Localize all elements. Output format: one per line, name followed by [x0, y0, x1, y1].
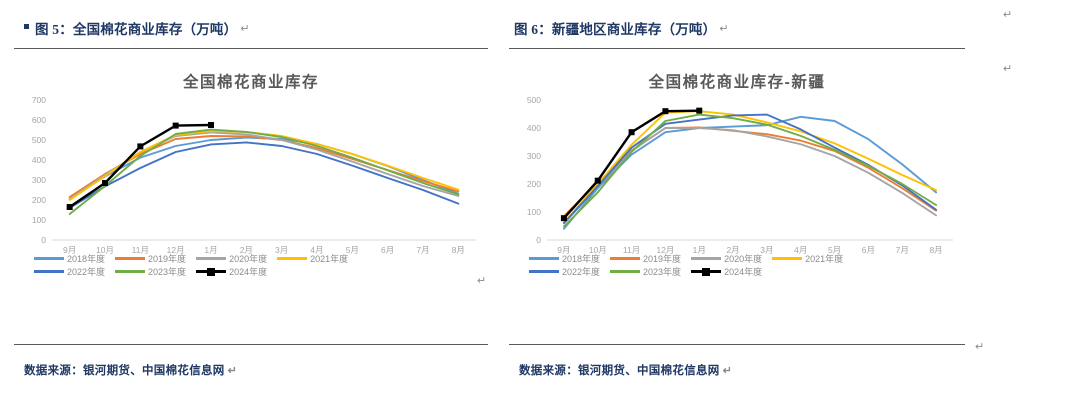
svg-text:500: 500: [32, 135, 46, 145]
svg-text:100: 100: [32, 215, 46, 225]
caption-divider: [14, 48, 488, 49]
legend-swatch-icon: [34, 257, 64, 260]
legend-item[interactable]: 2023年度: [115, 265, 186, 278]
svg-text:0: 0: [41, 235, 46, 245]
svg-text:0: 0: [536, 235, 541, 245]
legend-swatch-icon: [115, 257, 145, 260]
legend-label: 2021年度: [805, 252, 843, 265]
legend-item[interactable]: 2022年度: [529, 265, 600, 278]
legend-label: 2022年度: [562, 265, 600, 278]
paragraph-mark-icon: ↵: [719, 22, 728, 35]
svg-text:500: 500: [527, 95, 541, 105]
paragraph-mark-icon: ↵: [240, 22, 249, 35]
svg-text:300: 300: [32, 175, 46, 185]
legend-row: 2018年度2019年度2020年度2021年度: [34, 252, 474, 265]
legend-item[interactable]: 2019年度: [115, 252, 186, 265]
legend-swatch-icon: [610, 270, 640, 273]
legend-label: 2018年度: [562, 252, 600, 265]
legend-row: 2022年度2023年度2024年度: [34, 265, 474, 278]
svg-text:100: 100: [527, 207, 541, 217]
legend-swatch-icon: [529, 257, 559, 260]
legend-item[interactable]: 2022年度: [34, 265, 105, 278]
legend-swatch-icon: [196, 270, 226, 273]
legend-label: 2023年度: [643, 265, 681, 278]
legend-item[interactable]: 2024年度: [196, 265, 267, 278]
bullet-icon: [24, 24, 29, 29]
chart-legend-right: 2018年度2019年度2020年度2021年度2022年度2023年度2024…: [529, 252, 959, 278]
paragraph-mark-icon: ↵: [723, 365, 733, 377]
figure-caption-text: 图 5：全国棉花商业库存（万吨）: [35, 18, 237, 38]
legend-label: 2020年度: [229, 252, 267, 265]
figure-caption-right: 图 6：新疆地区商业库存（万吨） ↵: [514, 18, 729, 38]
legend-swatch-icon: [610, 257, 640, 260]
chart-legend-left: 2018年度2019年度2020年度2021年度2022年度2023年度2024…: [34, 252, 474, 278]
source-divider: [509, 344, 965, 345]
paragraph-mark-icon: ↵: [228, 365, 238, 377]
legend-label: 2021年度: [310, 252, 348, 265]
paragraph-mark-icon: ↵: [1003, 62, 1012, 75]
legend-item[interactable]: 2023年度: [610, 265, 681, 278]
legend-swatch-icon: [115, 270, 145, 273]
legend-item[interactable]: 2019年度: [610, 252, 681, 265]
svg-text:400: 400: [32, 155, 46, 165]
chart-title: 全国棉花商业库存: [14, 70, 488, 92]
figure-caption-text: 图 6：新疆地区商业库存（万吨）: [514, 18, 716, 38]
svg-text:200: 200: [32, 195, 46, 205]
legend-item[interactable]: 2024年度: [691, 265, 762, 278]
legend-label: 2019年度: [148, 252, 186, 265]
legend-label: 2024年度: [229, 265, 267, 278]
line-chart-left: 01002003004005006007009月10月11月12月1月2月3月4…: [14, 92, 488, 262]
caption-divider: [509, 48, 965, 49]
legend-swatch-icon: [196, 257, 226, 260]
svg-text:400: 400: [527, 123, 541, 133]
legend-label: 2020年度: [724, 252, 762, 265]
paragraph-mark-icon: ↵: [975, 340, 984, 353]
paragraph-mark-icon: ↵: [1003, 8, 1012, 21]
legend-swatch-icon: [772, 257, 802, 260]
line-chart-right: 01002003004005009月10月11月12月1月2月3月4月5月6月7…: [509, 92, 965, 262]
svg-text:300: 300: [527, 151, 541, 161]
legend-row: 2022年度2023年度2024年度: [529, 265, 959, 278]
svg-text:700: 700: [32, 95, 46, 105]
legend-label: 2022年度: [67, 265, 105, 278]
legend-swatch-icon: [277, 257, 307, 260]
legend-item[interactable]: 2021年度: [277, 252, 348, 265]
legend-swatch-icon: [691, 257, 721, 260]
svg-text:600: 600: [32, 115, 46, 125]
legend-item[interactable]: 2018年度: [34, 252, 105, 265]
legend-swatch-icon: [529, 270, 559, 273]
paragraph-mark-icon: ↵: [477, 274, 486, 287]
legend-label: 2024年度: [724, 265, 762, 278]
data-source-text: 数据来源：银河期货、中国棉花信息网: [24, 365, 225, 377]
data-source-left: 数据来源：银河期货、中国棉花信息网↵: [24, 362, 237, 378]
document-page: 图 5：全国棉花商业库存（万吨） ↵ 全国棉花商业库存 010020030040…: [0, 0, 1080, 406]
legend-swatch-icon: [34, 270, 64, 273]
legend-label: 2019年度: [643, 252, 681, 265]
legend-label: 2023年度: [148, 265, 186, 278]
svg-text:200: 200: [527, 179, 541, 189]
chart-title: 全国棉花商业库存-新疆: [509, 70, 965, 92]
figure-caption-left: 图 5：全国棉花商业库存（万吨） ↵: [24, 18, 250, 38]
chart-container-right: 全国棉花商业库存-新疆 01002003004005009月10月11月12月1…: [509, 70, 965, 286]
legend-label: 2018年度: [67, 252, 105, 265]
legend-row: 2018年度2019年度2020年度2021年度: [529, 252, 959, 265]
legend-item[interactable]: 2018年度: [529, 252, 600, 265]
data-source-text: 数据来源：银河期货、中国棉花信息网: [519, 365, 720, 377]
legend-swatch-icon: [691, 270, 721, 273]
legend-item[interactable]: 2021年度: [772, 252, 843, 265]
figure-column-left: 图 5：全国棉花商业库存（万吨） ↵ 全国棉花商业库存 010020030040…: [0, 0, 500, 406]
legend-item[interactable]: 2020年度: [691, 252, 762, 265]
data-source-right: 数据来源：银河期货、中国棉花信息网↵: [519, 362, 732, 378]
chart-container-left: 全国棉花商业库存 01002003004005006007009月10月11月1…: [14, 70, 488, 286]
legend-item[interactable]: 2020年度: [196, 252, 267, 265]
figure-column-right: 图 6：新疆地区商业库存（万吨） ↵ 全国棉花商业库存-新疆 010020030…: [505, 0, 1010, 406]
source-divider: [14, 344, 488, 345]
